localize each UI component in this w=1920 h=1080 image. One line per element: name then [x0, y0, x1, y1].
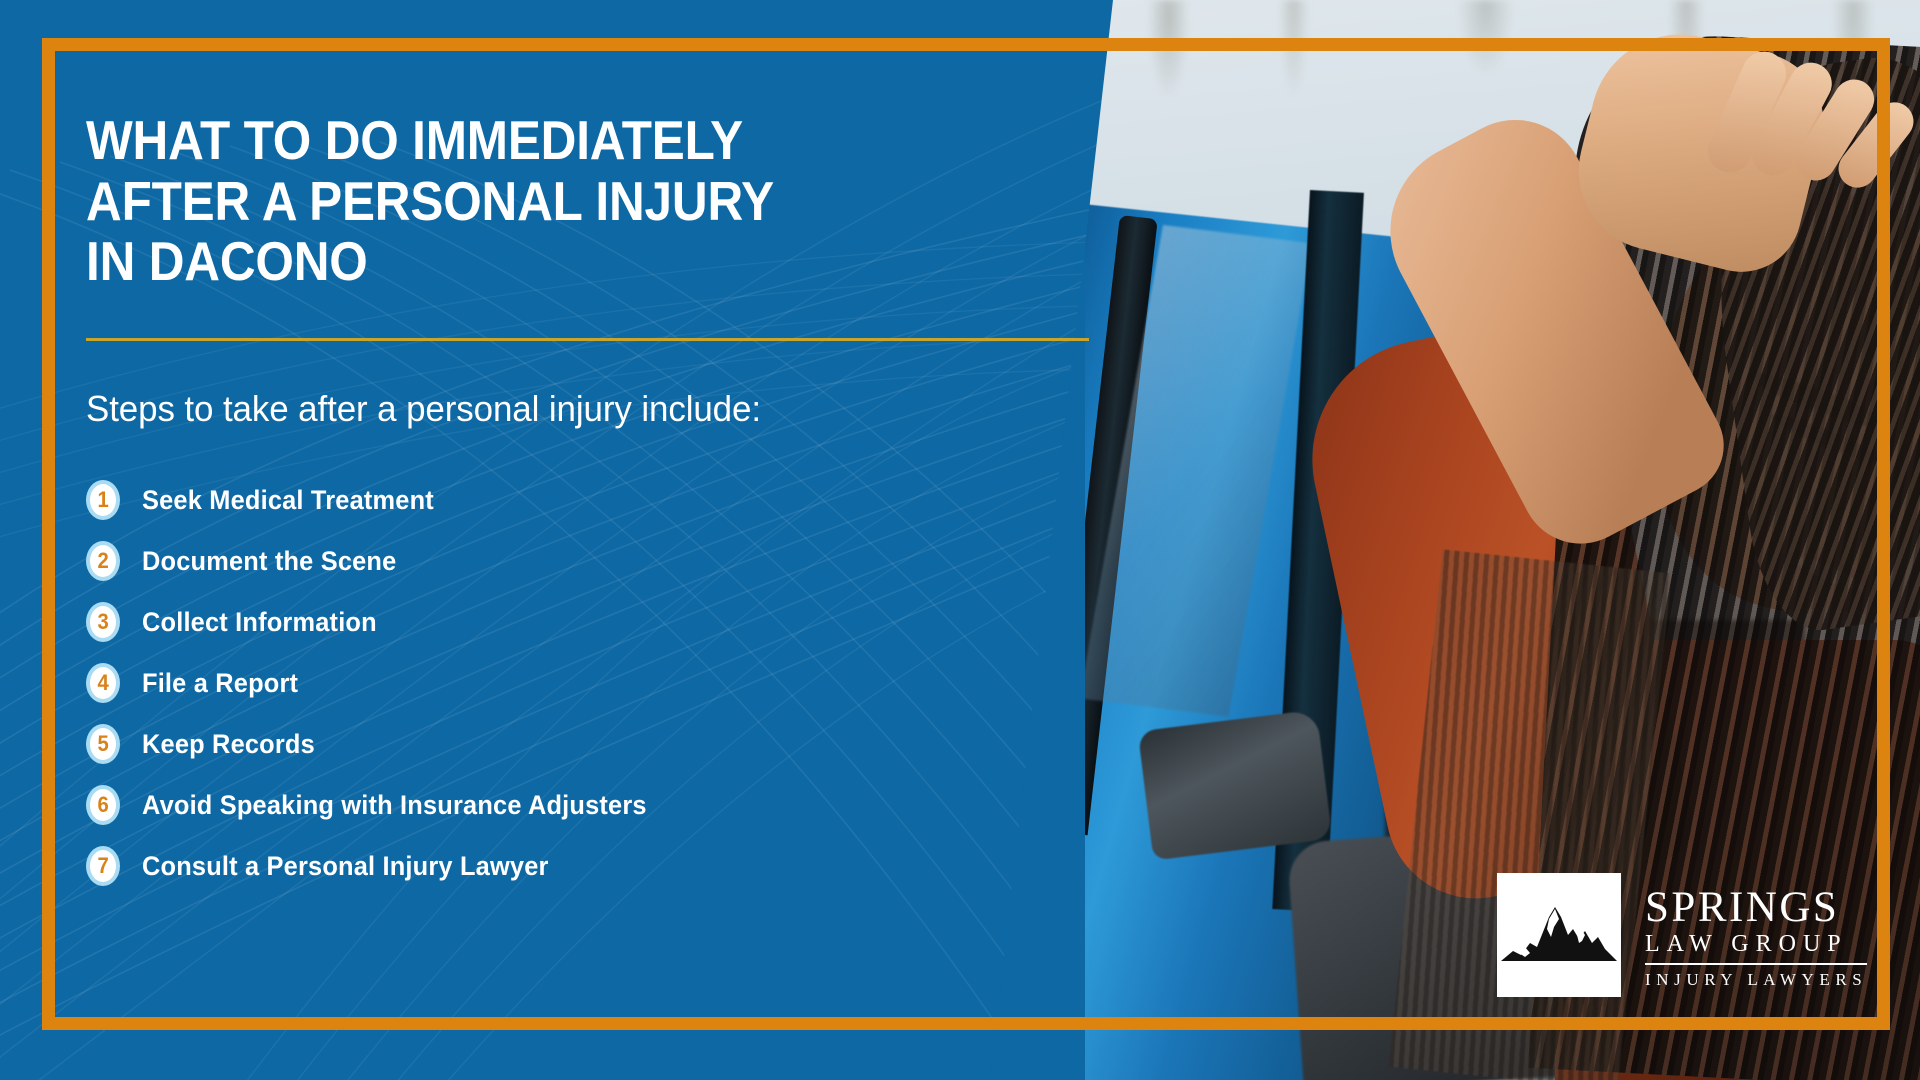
- list-item: 3 Collect Information: [86, 592, 1046, 653]
- subtitle: Steps to take after a personal injury in…: [86, 388, 1017, 430]
- list-item: 7 Consult a Personal Injury Lawyer: [86, 836, 1046, 897]
- step-label: Collect Information: [142, 607, 377, 638]
- step-number-badge: 1: [86, 480, 120, 520]
- step-label: Consult a Personal Injury Lawyer: [142, 851, 549, 882]
- steps-list: 1 Seek Medical Treatment 2 Document the …: [86, 470, 1046, 897]
- mountain-peaks-icon: [1497, 873, 1621, 997]
- step-number: 1: [97, 489, 108, 511]
- step-number-badge: 4: [86, 663, 120, 703]
- logo-line-injury-lawyers: INJURY LAWYERS: [1645, 971, 1867, 990]
- step-number: 7: [97, 855, 108, 877]
- step-number-badge: 6: [86, 785, 120, 825]
- step-number-badge: 3: [86, 602, 120, 642]
- step-number-badge: 2: [86, 541, 120, 581]
- logo-line-lawgroup: LAW GROUP: [1645, 931, 1867, 957]
- step-label: Document the Scene: [142, 546, 396, 577]
- step-number: 2: [97, 550, 108, 572]
- list-item: 4 File a Report: [86, 653, 1046, 714]
- logo-wordmark: SPRINGS LAW GROUP INJURY LAWYERS: [1645, 873, 1867, 997]
- step-number-badge: 7: [86, 846, 120, 886]
- step-number: 4: [97, 672, 108, 694]
- gold-divider: [86, 338, 1089, 341]
- step-number-badge: 5: [86, 724, 120, 764]
- photo-side-mirror: [1138, 710, 1333, 861]
- logo-divider-rule: [1645, 963, 1867, 965]
- step-label: File a Report: [142, 668, 298, 699]
- step-number: 3: [97, 611, 108, 633]
- list-item: 6 Avoid Speaking with Insurance Adjuster…: [86, 775, 1046, 836]
- step-label: Avoid Speaking with Insurance Adjusters: [142, 790, 647, 821]
- step-label: Keep Records: [142, 729, 315, 760]
- step-label: Seek Medical Treatment: [142, 485, 434, 516]
- list-item: 5 Keep Records: [86, 714, 1046, 775]
- list-item: 1 Seek Medical Treatment: [86, 470, 1046, 531]
- graphic-canvas: WHAT TO DO IMMEDIATELY AFTER A PERSONAL …: [0, 0, 1920, 1080]
- step-number: 5: [97, 733, 108, 755]
- page-title: WHAT TO DO IMMEDIATELY AFTER A PERSONAL …: [86, 110, 950, 292]
- content-block: WHAT TO DO IMMEDIATELY AFTER A PERSONAL …: [86, 110, 1046, 913]
- brand-logo: SPRINGS LAW GROUP INJURY LAWYERS: [1497, 873, 1867, 997]
- logo-line-springs: SPRINGS: [1645, 886, 1867, 929]
- list-item: 2 Document the Scene: [86, 531, 1046, 592]
- step-number: 6: [97, 794, 108, 816]
